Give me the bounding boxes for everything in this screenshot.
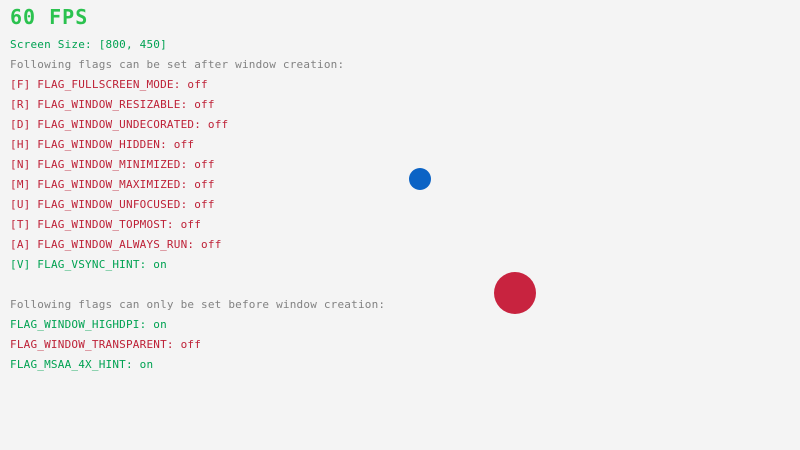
- flag-name: FLAG_WINDOW_RESIZABLE:: [37, 98, 194, 111]
- flag-row[interactable]: [H] FLAG_WINDOW_HIDDEN: off: [10, 138, 194, 151]
- flag-value: off: [194, 158, 214, 171]
- flag-value: off: [208, 118, 228, 131]
- runtime-flags-note: Following flags can be set after window …: [10, 58, 344, 71]
- flag-row[interactable]: [F] FLAG_FULLSCREEN_MODE: off: [10, 78, 208, 91]
- flag-key: [V]: [10, 258, 37, 271]
- flag-name: FLAG_WINDOW_UNFOCUSED:: [37, 198, 194, 211]
- screen-size-label: Screen Size: [800, 450]: [10, 38, 167, 51]
- flag-key: [F]: [10, 78, 37, 91]
- flag-key: [U]: [10, 198, 37, 211]
- flag-row[interactable]: [R] FLAG_WINDOW_RESIZABLE: off: [10, 98, 215, 111]
- flag-name: FLAG_WINDOW_HIGHDPI:: [10, 318, 153, 331]
- flag-value: off: [187, 78, 207, 91]
- small-blue-ball: [409, 168, 431, 190]
- flag-name: FLAG_WINDOW_MINIMIZED:: [37, 158, 194, 171]
- flag-value: off: [181, 218, 201, 231]
- flag-key: [D]: [10, 118, 37, 131]
- flag-key: [N]: [10, 158, 37, 171]
- flag-key: [M]: [10, 178, 37, 191]
- flag-value: on: [153, 258, 167, 271]
- flag-name: FLAG_FULLSCREEN_MODE:: [37, 78, 187, 91]
- flag-row[interactable]: FLAG_WINDOW_HIGHDPI: on: [10, 318, 167, 331]
- flag-row[interactable]: [D] FLAG_WINDOW_UNDECORATED: off: [10, 118, 228, 131]
- flag-row[interactable]: FLAG_WINDOW_TRANSPARENT: off: [10, 338, 201, 351]
- flag-row[interactable]: [A] FLAG_WINDOW_ALWAYS_RUN: off: [10, 238, 222, 251]
- flag-key: [R]: [10, 98, 37, 111]
- flag-key: [H]: [10, 138, 37, 151]
- flag-name: FLAG_WINDOW_ALWAYS_RUN:: [37, 238, 201, 251]
- flag-value: on: [153, 318, 167, 331]
- flag-name: FLAG_WINDOW_HIDDEN:: [37, 138, 173, 151]
- flag-value: off: [174, 138, 194, 151]
- large-red-ball: [494, 272, 536, 314]
- flag-name: FLAG_WINDOW_UNDECORATED:: [37, 118, 208, 131]
- creation-flags-note: Following flags can only be set before w…: [10, 298, 385, 311]
- flag-key: [A]: [10, 238, 37, 251]
- raylib-window-canvas[interactable]: 60 FPS Screen Size: [800, 450] Following…: [0, 0, 800, 450]
- fps-counter: 60 FPS: [10, 6, 88, 28]
- flag-row[interactable]: [T] FLAG_WINDOW_TOPMOST: off: [10, 218, 201, 231]
- flag-name: FLAG_MSAA_4X_HINT:: [10, 358, 140, 371]
- flag-value: off: [194, 178, 214, 191]
- flag-name: FLAG_WINDOW_TOPMOST:: [37, 218, 180, 231]
- flag-row[interactable]: FLAG_MSAA_4X_HINT: on: [10, 358, 153, 371]
- flag-value: off: [194, 98, 214, 111]
- flag-value: off: [181, 338, 201, 351]
- flag-name: FLAG_VSYNC_HINT:: [37, 258, 153, 271]
- flag-name: FLAG_WINDOW_MAXIMIZED:: [37, 178, 194, 191]
- flag-row[interactable]: [U] FLAG_WINDOW_UNFOCUSED: off: [10, 198, 215, 211]
- flag-value: off: [194, 198, 214, 211]
- flag-value: off: [201, 238, 221, 251]
- flag-value: on: [140, 358, 154, 371]
- flag-row[interactable]: [M] FLAG_WINDOW_MAXIMIZED: off: [10, 178, 215, 191]
- flag-row[interactable]: [N] FLAG_WINDOW_MINIMIZED: off: [10, 158, 215, 171]
- flag-key: [T]: [10, 218, 37, 231]
- flag-name: FLAG_WINDOW_TRANSPARENT:: [10, 338, 181, 351]
- flag-row[interactable]: [V] FLAG_VSYNC_HINT: on: [10, 258, 167, 271]
